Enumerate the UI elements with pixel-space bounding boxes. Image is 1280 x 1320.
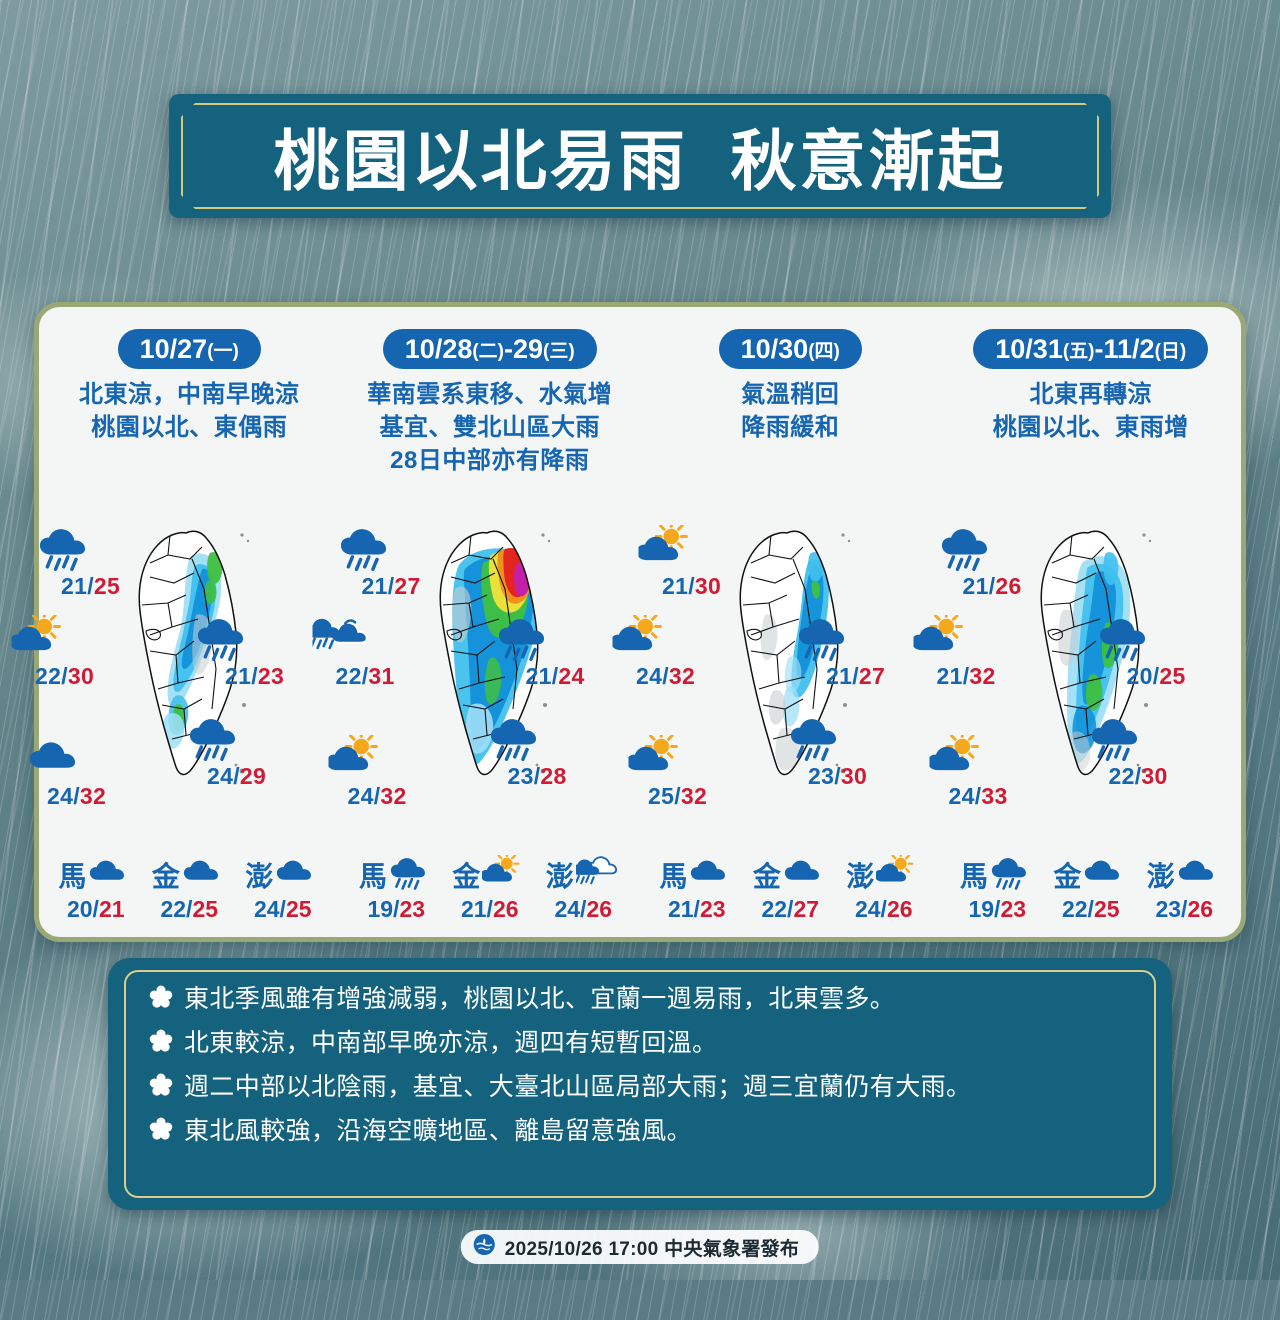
flower-bullet-icon <box>148 1028 174 1059</box>
island-weather-icon <box>182 855 227 895</box>
island-forecast: 馬21/23 <box>651 855 743 923</box>
island-header: 馬 <box>350 855 442 895</box>
region-temperature-south: 24/33 <box>949 783 1008 810</box>
day-of-week: (三) <box>543 336 575 363</box>
island-name: 金 <box>152 855 180 895</box>
day-of-week: (二) <box>472 336 504 363</box>
temp-separator: / <box>852 663 859 689</box>
temp-separator: / <box>662 663 669 689</box>
forecast-panel: 10/27(一)北東涼，中南早晚涼 桃園以北、東偶雨 21/2522/3021/… <box>34 302 1246 942</box>
region-temperature-north: 21/25 <box>61 573 120 600</box>
island-header: 金 <box>1045 855 1137 895</box>
rain-icon <box>788 715 847 761</box>
region-temperature-north: 21/26 <box>963 573 1022 600</box>
flower-bullet-icon <box>148 984 174 1015</box>
high-temp: 32 <box>681 783 707 809</box>
low-temp: 24 <box>949 783 975 809</box>
low-temp: 21 <box>362 573 388 599</box>
rain-icon <box>1097 615 1156 661</box>
high-temp: 33 <box>981 783 1007 809</box>
island-header: 金 <box>143 855 235 895</box>
sun-cloud-icon <box>638 525 697 571</box>
sun-cloud-icon <box>876 855 921 890</box>
high-temp: 28 <box>540 763 566 789</box>
date-pill[interactable]: 10/31(五) -11/2(日) <box>973 329 1208 369</box>
temp-separator: / <box>688 573 695 599</box>
island-temperature: 21/26 <box>444 896 536 923</box>
low-temp: 21 <box>937 663 963 689</box>
low-temp: 22 <box>336 663 362 689</box>
island-weather-icon <box>876 855 921 895</box>
high-temp: 26 <box>995 573 1021 599</box>
region-temperature-south: 25/32 <box>648 783 707 810</box>
temp-separator: / <box>251 663 258 689</box>
island-weather-icon <box>990 855 1035 895</box>
low-temp: 24 <box>207 763 233 789</box>
island-header: 馬 <box>50 855 142 895</box>
high-temp: 26 <box>586 896 612 922</box>
high-temp: 26 <box>1187 896 1213 922</box>
low-temp: 24 <box>636 663 662 689</box>
sun-cloud-icon <box>328 735 387 781</box>
high-temp: 32 <box>669 663 695 689</box>
forecast-column-1: 10/27(一)北東涼，中南早晚涼 桃園以北、東偶雨 21/2522/3021/… <box>39 307 340 937</box>
sun-cloud-icon <box>11 615 70 661</box>
high-temp: 29 <box>240 763 266 789</box>
island-forecast-row: 馬19/23金21/26澎24/26 <box>340 855 641 923</box>
region-temperature-southeast: 23/28 <box>508 763 567 790</box>
cloud-icon <box>275 855 320 890</box>
island-temperature: 22/27 <box>744 896 836 923</box>
low-temp: 24 <box>254 896 280 922</box>
date-pill[interactable]: 10/28(二) -29(三) <box>383 329 597 369</box>
sun-cloud-icon <box>628 735 687 781</box>
low-temp: 23 <box>508 763 534 789</box>
island-forecast: 澎23/26 <box>1138 855 1230 923</box>
high-temp: 24 <box>558 663 584 689</box>
map-container: 21/2522/3021/2324/2924/32 <box>39 515 340 845</box>
low-temp: 23 <box>1155 896 1181 922</box>
page-title: 桃園以北易雨 秋意漸起 <box>274 108 1007 204</box>
cloud-icon <box>783 855 828 890</box>
island-temperature: 22/25 <box>143 896 235 923</box>
low-temp: 21 <box>526 663 552 689</box>
high-temp: 25 <box>94 573 120 599</box>
island-temperature: 19/23 <box>350 896 442 923</box>
low-temp: 24 <box>855 896 881 922</box>
low-temp: 24 <box>47 783 73 809</box>
rain-icon <box>1089 715 1148 761</box>
region-temperature-west: 24/32 <box>636 663 695 690</box>
high-temp: 30 <box>1141 763 1167 789</box>
note-text: 東北風較強，沿海空曠地區、離島留意強風。 <box>184 1116 692 1147</box>
cloud-rain-cloud-icon <box>312 615 371 661</box>
cloud-icon <box>182 855 227 890</box>
low-temp: 20 <box>1127 663 1153 689</box>
island-temperature: 22/25 <box>1045 896 1137 923</box>
map-container: 21/2722/3121/2423/2824/32 <box>340 515 641 845</box>
high-temp: 21 <box>99 896 125 922</box>
region-temperature-south: 24/32 <box>348 783 407 810</box>
note-item: 東北風較強，沿海空曠地區、離島留意強風。 <box>148 1116 1138 1147</box>
cloud-icon <box>689 855 734 890</box>
rain-icon <box>195 615 254 661</box>
island-name: 馬 <box>659 855 687 895</box>
column-description: 北東涼，中南早晚涼 桃園以北、東偶雨 <box>39 379 340 445</box>
cloud-icon <box>88 855 133 890</box>
rain-icon <box>187 715 246 761</box>
map-container: 21/2621/3220/2522/3024/33 <box>941 515 1242 845</box>
island-weather-icon <box>576 855 621 895</box>
island-forecast: 金22/25 <box>1045 855 1137 923</box>
island-name: 金 <box>452 855 480 895</box>
region-temperature-southeast: 24/29 <box>207 763 266 790</box>
rain-icon <box>488 715 547 761</box>
temp-separator: / <box>61 663 68 689</box>
low-temp: 21 <box>461 896 487 922</box>
low-temp: 21 <box>662 573 688 599</box>
temp-separator: / <box>233 763 240 789</box>
note-text: 北東較涼，中南部早晚亦涼，週四有短暫回溫。 <box>184 1028 717 1059</box>
region-temperature-southeast: 23/30 <box>808 763 867 790</box>
rain-icon <box>990 855 1035 890</box>
island-forecast: 馬19/23 <box>951 855 1043 923</box>
day-of-week: (五) <box>1063 336 1095 363</box>
low-temp: 19 <box>367 896 393 922</box>
island-name: 金 <box>1053 855 1081 895</box>
cwa-logo-icon <box>473 1233 496 1261</box>
rain-icon <box>796 615 855 661</box>
island-weather-icon <box>389 855 434 895</box>
high-temp: 23 <box>399 896 425 922</box>
low-temp: 22 <box>1109 763 1135 789</box>
footer-timestamp: 2025/10/26 17:00 中央氣象署發布 <box>505 1234 799 1261</box>
high-temp: 26 <box>493 896 519 922</box>
island-forecast-row: 馬20/21金22/25澎24/25 <box>39 855 340 923</box>
cloud-icon <box>27 735 86 781</box>
high-temp: 30 <box>68 663 94 689</box>
column-description: 華南雲系東移、水氣增 基宜、雙北山區大雨 28日中部亦有降雨 <box>340 379 641 478</box>
region-temperature-north: 21/30 <box>662 573 721 600</box>
island-weather-icon <box>275 855 320 895</box>
notes-panel: 東北季風雖有增強減弱，桃園以北、宜蘭一週易雨，北東雲多。北東較涼，中南部早晚亦涼… <box>108 958 1172 1210</box>
island-name: 馬 <box>58 855 86 895</box>
sun-cloud-icon <box>913 615 972 661</box>
low-temp: 19 <box>968 896 994 922</box>
date-pill[interactable]: 10/27(一) <box>118 329 261 369</box>
issuer-footer: 2025/10/26 17:00 中央氣象署發布 <box>461 1230 819 1264</box>
forecast-column-4: 10/31(五) -11/2(日)北東再轉涼 桃園以北、東雨增 21/2621/… <box>941 307 1242 937</box>
high-temp: 32 <box>380 783 406 809</box>
region-temperature-south: 24/32 <box>47 783 106 810</box>
island-temperature: 24/25 <box>237 896 329 923</box>
rain-icon <box>496 615 555 661</box>
island-name: 澎 <box>546 855 574 895</box>
cloud-icon <box>1177 855 1222 890</box>
high-temp: 26 <box>887 896 913 922</box>
island-forecast: 澎24/26 <box>537 855 629 923</box>
temp-separator: / <box>834 763 841 789</box>
region-temperature-east: 21/27 <box>826 663 885 690</box>
day-of-week: (一) <box>207 336 239 363</box>
island-name: 金 <box>753 855 781 895</box>
island-name: 澎 <box>846 855 874 895</box>
island-header: 馬 <box>651 855 743 895</box>
low-temp: 20 <box>67 896 93 922</box>
island-weather-icon <box>1177 855 1222 895</box>
high-temp: 25 <box>1159 663 1185 689</box>
date-pill[interactable]: 10/30(四) <box>719 329 862 369</box>
island-temperature: 23/26 <box>1138 896 1230 923</box>
low-temp: 21 <box>963 573 989 599</box>
island-header: 澎 <box>237 855 329 895</box>
low-temp: 22 <box>1062 896 1088 922</box>
island-forecast: 金21/26 <box>444 855 536 923</box>
region-temperature-west: 22/30 <box>35 663 94 690</box>
low-temp: 21 <box>225 663 251 689</box>
high-temp: 23 <box>258 663 284 689</box>
region-temperature-east: 21/23 <box>225 663 284 690</box>
flower-bullet-icon <box>148 1072 174 1103</box>
island-header: 澎 <box>537 855 629 895</box>
high-temp: 23 <box>700 896 726 922</box>
temp-separator: / <box>73 783 80 809</box>
island-header: 金 <box>744 855 836 895</box>
island-temperature: 24/26 <box>537 896 629 923</box>
island-forecast: 金22/25 <box>143 855 235 923</box>
island-header: 澎 <box>1138 855 1230 895</box>
high-temp: 25 <box>286 896 312 922</box>
high-temp: 27 <box>394 573 420 599</box>
island-weather-icon <box>482 855 527 895</box>
note-text: 週二中部以北陰雨，基宜、大臺北山區局部大雨；週三宜蘭仍有大雨。 <box>184 1072 971 1103</box>
sun-cloud-icon <box>929 735 988 781</box>
forecast-column-3: 10/30(四)氣溫稍回 降雨緩和 21/3024/3221/2723/3025… <box>640 307 941 937</box>
rain-icon <box>389 855 434 890</box>
island-forecast-row: 馬19/23金22/25澎23/26 <box>941 855 1242 923</box>
high-temp: 27 <box>859 663 885 689</box>
high-temp: 23 <box>1000 896 1026 922</box>
forecast-column-2: 10/28(二) -29(三)華南雲系東移、水氣增 基宜、雙北山區大雨 28日中… <box>340 307 641 937</box>
island-name: 馬 <box>960 855 988 895</box>
infographic-root: 一週內東北季風接續影響 桃園以北易雨 秋意漸起 一週天氣、預測低高溫(℃) 10… <box>0 0 1280 1280</box>
note-item: 週二中部以北陰雨，基宜、大臺北山區局部大雨；週三宜蘭仍有大雨。 <box>148 1072 1138 1103</box>
rain-cloud-icon <box>576 855 621 890</box>
island-header: 澎 <box>838 855 930 895</box>
high-temp: 27 <box>793 896 819 922</box>
island-forecast: 金22/27 <box>744 855 836 923</box>
column-description: 氣溫稍回 降雨緩和 <box>640 379 941 445</box>
high-temp: 31 <box>368 663 394 689</box>
high-temp: 32 <box>80 783 106 809</box>
low-temp: 25 <box>648 783 674 809</box>
rain-icon <box>37 525 96 571</box>
temp-separator: / <box>674 783 681 809</box>
region-temperature-east: 20/25 <box>1127 663 1186 690</box>
island-forecast: 澎24/25 <box>237 855 329 923</box>
low-temp: 24 <box>348 783 374 809</box>
day-of-week: (四) <box>808 336 840 363</box>
low-temp: 23 <box>808 763 834 789</box>
low-temp: 24 <box>554 896 580 922</box>
day-of-week: (日) <box>1155 336 1187 363</box>
island-name: 澎 <box>1147 855 1175 895</box>
note-item: 北東較涼，中南部早晚亦涼，週四有短暫回溫。 <box>148 1028 1138 1059</box>
region-temperature-north: 21/27 <box>362 573 421 600</box>
note-item: 東北季風雖有增強減弱，桃園以北、宜蘭一週易雨，北東雲多。 <box>148 984 1138 1015</box>
low-temp: 21 <box>826 663 852 689</box>
island-name: 澎 <box>245 855 273 895</box>
island-temperature: 19/23 <box>951 896 1043 923</box>
island-forecast: 馬19/23 <box>350 855 442 923</box>
island-header: 馬 <box>951 855 1043 895</box>
cloud-icon <box>1083 855 1128 890</box>
map-container: 21/3024/3221/2723/3025/32 <box>640 515 941 845</box>
island-weather-icon <box>783 855 828 895</box>
low-temp: 22 <box>35 663 61 689</box>
island-header: 金 <box>444 855 536 895</box>
high-temp: 32 <box>969 663 995 689</box>
sun-cloud-icon <box>612 615 671 661</box>
title-plaque: 桃園以北易雨 秋意漸起 <box>169 94 1111 218</box>
notes-list: 東北季風雖有增強減弱，桃園以北、宜蘭一週易雨，北東雲多。北東較涼，中南部早晚亦涼… <box>108 958 1172 1147</box>
island-forecast: 馬20/21 <box>50 855 142 923</box>
island-temperature: 24/26 <box>838 896 930 923</box>
sun-cloud-icon <box>482 855 527 890</box>
low-temp: 22 <box>160 896 186 922</box>
rain-icon <box>939 525 998 571</box>
low-temp: 21 <box>61 573 87 599</box>
island-name: 馬 <box>359 855 387 895</box>
region-temperature-southeast: 22/30 <box>1109 763 1168 790</box>
island-weather-icon <box>88 855 133 895</box>
island-forecast: 澎24/26 <box>838 855 930 923</box>
high-temp: 30 <box>695 573 721 599</box>
note-text: 東北季風雖有增強減弱，桃園以北、宜蘭一週易雨，北東雲多。 <box>184 984 895 1015</box>
flower-bullet-icon <box>148 1116 174 1147</box>
high-temp: 25 <box>1094 896 1120 922</box>
low-temp: 21 <box>668 896 694 922</box>
region-temperature-west: 22/31 <box>336 663 395 690</box>
temp-separator: / <box>87 573 94 599</box>
island-weather-icon <box>689 855 734 895</box>
high-temp: 25 <box>192 896 218 922</box>
region-temperature-west: 21/32 <box>937 663 996 690</box>
rain-icon <box>338 525 397 571</box>
region-temperature-east: 21/24 <box>526 663 585 690</box>
island-forecast-row: 馬21/23金22/27澎24/26 <box>640 855 941 923</box>
low-temp: 22 <box>761 896 787 922</box>
island-temperature: 20/21 <box>50 896 142 923</box>
island-temperature: 21/23 <box>651 896 743 923</box>
column-description: 北東再轉涼 桃園以北、東雨增 <box>941 379 1242 445</box>
island-weather-icon <box>1083 855 1128 895</box>
high-temp: 30 <box>841 763 867 789</box>
